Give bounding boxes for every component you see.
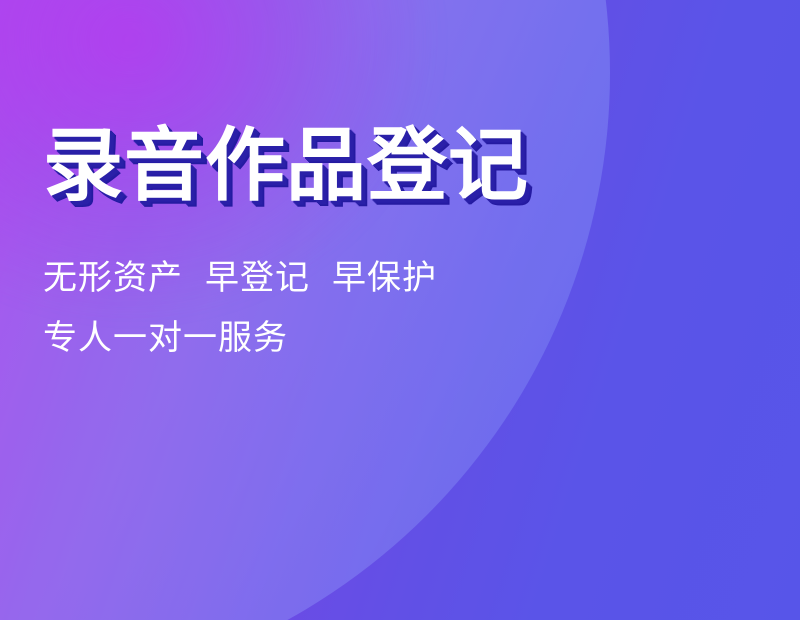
subtitle-segment-early-registration: 早登记 xyxy=(205,259,310,297)
banner-subtitle-list: 无形资产早登记早保护 专人一对一服务 xyxy=(43,248,683,368)
banner-headline: 录音作品登记 xyxy=(43,118,683,214)
banner-subtitle-line-1: 无形资产早登记早保护 xyxy=(43,248,683,308)
banner-content: 录音作品登记 无形资产早登记早保护 专人一对一服务 xyxy=(43,118,683,368)
subtitle-segment-intangible-assets: 无形资产 xyxy=(43,259,183,297)
banner-subtitle-line-2: 专人一对一服务 xyxy=(43,308,683,368)
subtitle-segment-early-protection: 早保护 xyxy=(332,259,437,297)
promo-banner: 录音作品登记 无形资产早登记早保护 专人一对一服务 xyxy=(0,0,800,620)
